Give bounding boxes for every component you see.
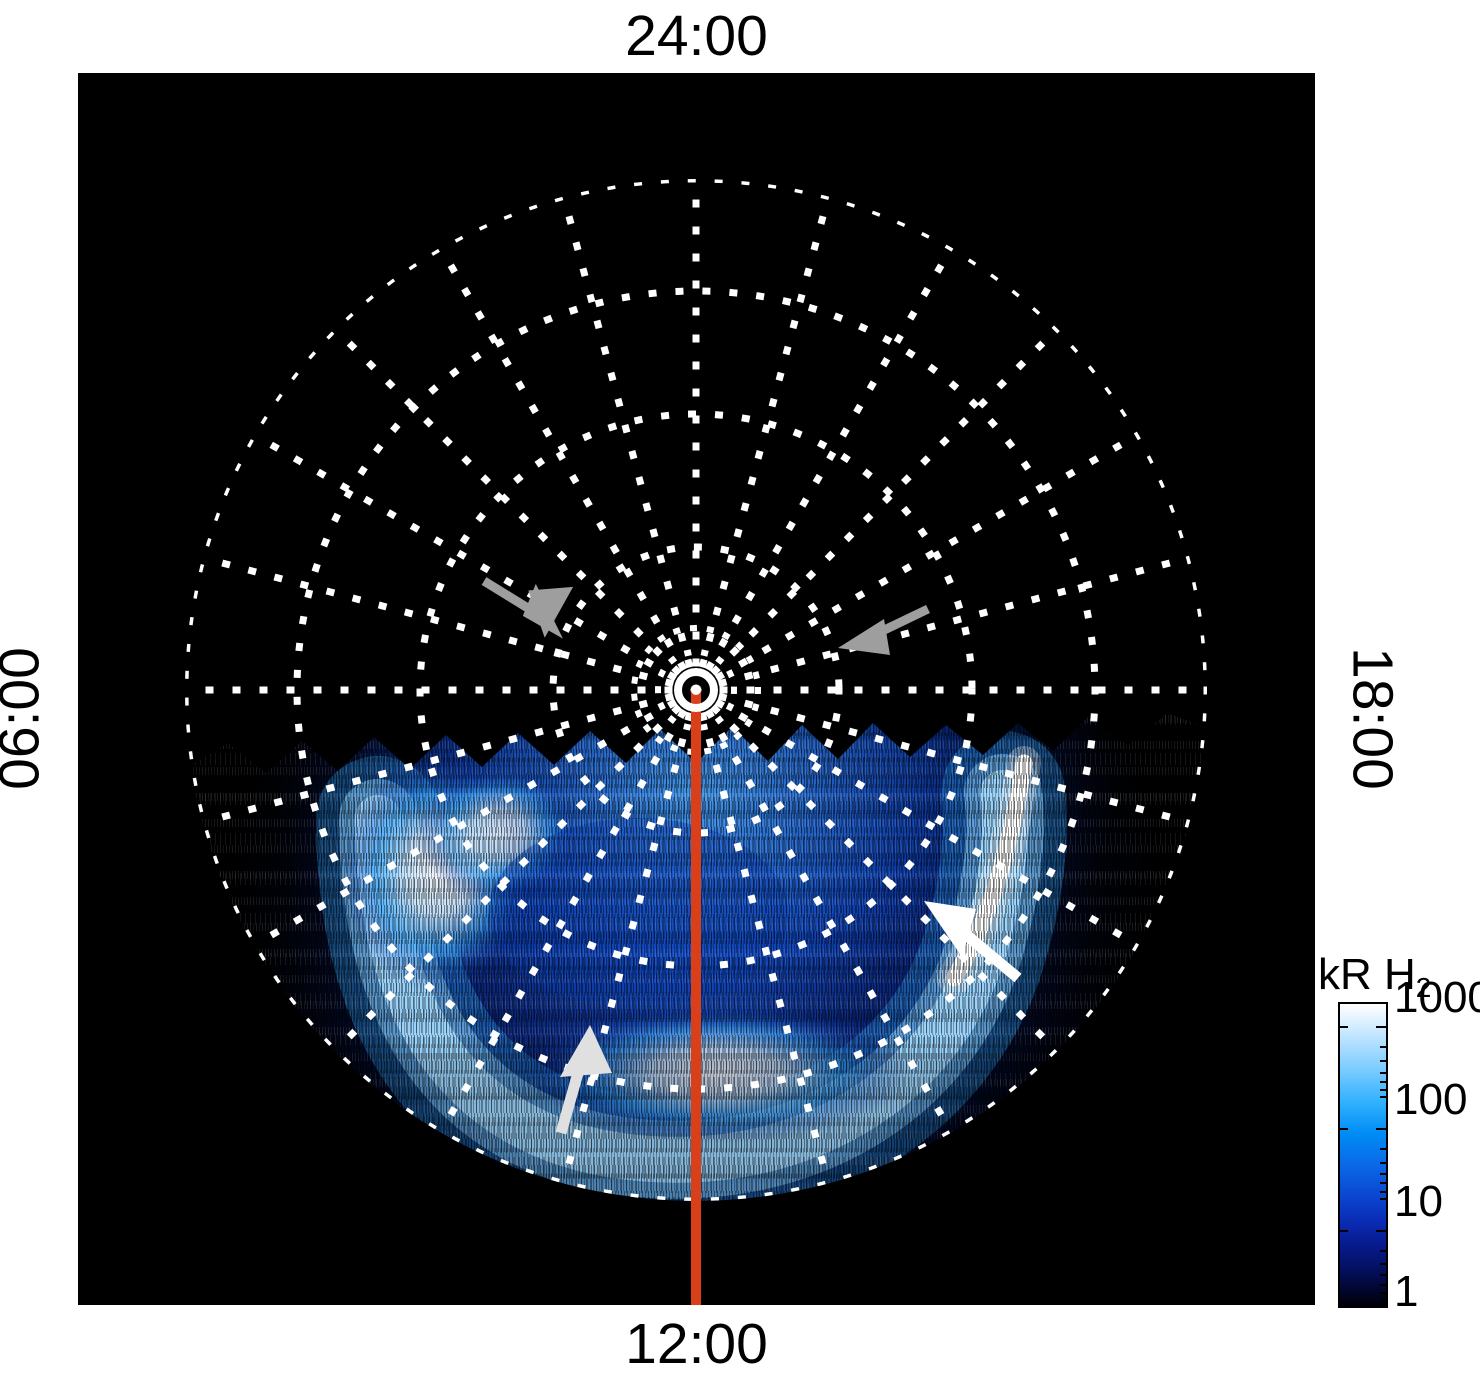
colorbar-tick-marks [1338, 1002, 1388, 1308]
polar-plot-svg [78, 73, 1315, 1305]
polar-plot-panel [78, 73, 1315, 1305]
axis-label-left: 06:00 [0, 609, 49, 829]
colorbar-tick-label-1: 1 [1394, 1270, 1418, 1314]
aurora-polar-figure: 24:00 12:00 06:00 18:00 [0, 0, 1480, 1384]
pole-marker-dot [691, 685, 701, 695]
colorbar-tick-label-100: 100 [1394, 1078, 1467, 1122]
colorbar-tick-label-10: 10 [1394, 1180, 1443, 1224]
axis-label-bottom: 12:00 [0, 1316, 1393, 1373]
axis-label-top: 24:00 [0, 8, 1393, 65]
colorbar: 1000 100 10 1 [1338, 1002, 1388, 1308]
colorbar-tick-label-1000: 1000 [1394, 976, 1480, 1020]
axis-label-right: 18:00 [1344, 609, 1401, 829]
